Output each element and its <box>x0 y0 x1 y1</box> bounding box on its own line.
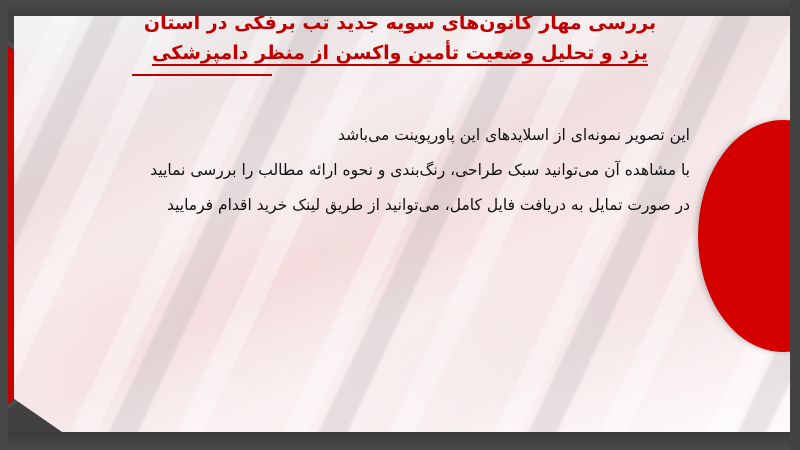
frame-band-bottom <box>0 432 800 450</box>
background-streaks-gray-icon <box>14 16 790 432</box>
frame-band-right <box>790 0 800 450</box>
slide-title-line-2: یزد و تحلیل وضعیت تأمین واکسن از منظر دا… <box>80 38 720 68</box>
slide-content-panel <box>14 16 790 432</box>
body-line-2: با مشاهده آن می‌توانید سبک طراحی، رنگ‌بن… <box>150 153 690 188</box>
slide-title-line-1: بررسی مهار کانون‌های سویه جدید تب برفکی … <box>80 8 720 38</box>
slide-body-text: این تصویر نمونه‌ای از اسلایدهای این پاور… <box>150 118 690 223</box>
right-red-ellipse-shape <box>698 120 790 352</box>
frame-band-left <box>0 0 8 450</box>
background-streaks-light-icon <box>14 16 790 432</box>
body-line-3: در صورت تمایل به دریافت فایل کامل، می‌تو… <box>150 188 690 223</box>
title-underline-rule <box>132 74 272 76</box>
presentation-slide: بررسی مهار کانون‌های سویه جدید تب برفکی … <box>0 0 800 450</box>
body-line-1: این تصویر نمونه‌ای از اسلایدهای این پاور… <box>150 118 690 153</box>
slide-title: بررسی مهار کانون‌های سویه جدید تب برفکی … <box>80 8 720 69</box>
